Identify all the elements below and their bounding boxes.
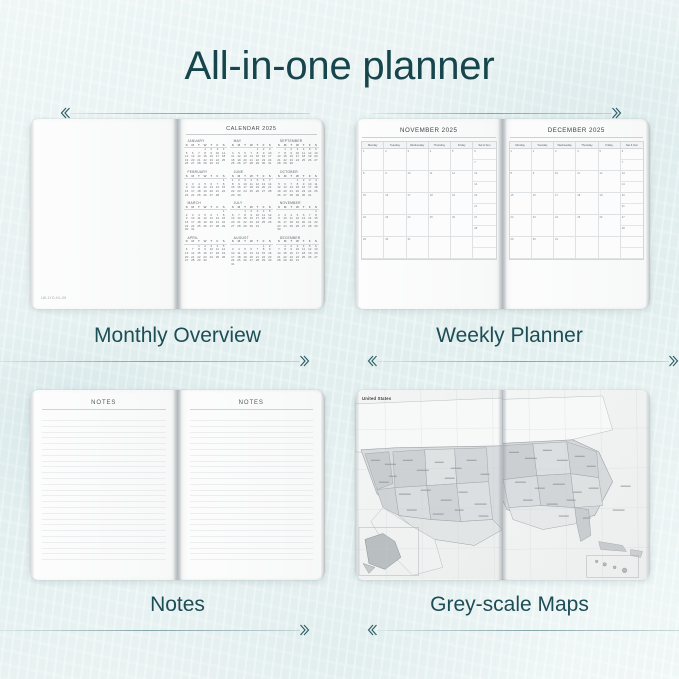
notes-header-left: NOTES xyxy=(30,400,178,406)
weekly-day-cell[interactable]: 26 xyxy=(599,215,621,237)
weekly-weekend-half[interactable]: 14 xyxy=(473,182,495,192)
weekly-page-right: DECEMBER 2025 MondayTuesdayWednesdayThur… xyxy=(503,119,651,309)
weekly-divider-right xyxy=(510,137,644,138)
weekly-day-cell[interactable]: 8 xyxy=(362,171,384,193)
weekly-column-header: Sat & Sun xyxy=(621,142,643,148)
weekly-day-cell[interactable]: 16 xyxy=(532,193,554,215)
weekly-day-number: 20 xyxy=(622,194,625,197)
map-page-left: United States xyxy=(355,390,503,580)
weekly-weekend-half[interactable] xyxy=(621,248,643,258)
weekly-day-cell[interactable]: 29 xyxy=(510,237,532,259)
book-notes[interactable]: NOTES NOTES xyxy=(30,390,325,580)
page-edge-left xyxy=(355,121,359,307)
caption-weekly-planner: Weekly Planner xyxy=(340,324,679,348)
weekly-day-cell[interactable]: 10 xyxy=(554,171,576,193)
weekly-day-number: 14 xyxy=(474,183,477,186)
weekly-day-number: 13 xyxy=(474,172,477,175)
notes-header-right: NOTES xyxy=(178,400,326,406)
weekly-day-number: 16 xyxy=(385,194,388,197)
weekly-day-cell[interactable]: 22 xyxy=(362,215,384,237)
weekly-day-cell[interactable] xyxy=(576,237,598,259)
mini-month: MARCHSMTWTFS1234567891011121314151617181… xyxy=(184,201,227,232)
weekly-day-cell[interactable]: 2 xyxy=(532,149,554,171)
weekly-day-cell[interactable]: 10 xyxy=(407,171,429,193)
page-edge-right xyxy=(321,392,325,578)
weekly-day-cell[interactable]: 1314 xyxy=(621,171,643,193)
weekly-day-number: 10 xyxy=(408,172,411,175)
weekly-day-cell[interactable] xyxy=(429,237,451,259)
weekly-day-number: 7 xyxy=(622,161,623,164)
weekly-day-number: 15 xyxy=(511,194,514,197)
mini-month: AUGUSTSMTWTFS123456789101112131415161718… xyxy=(230,236,273,267)
weekly-day-cell[interactable]: 22 xyxy=(510,215,532,237)
weekly-day-cell[interactable]: 17 xyxy=(554,193,576,215)
calendar-header: CALENDAR 2025 xyxy=(178,126,326,132)
mini-month: JANUARYSMTWTFS12345678910111213141516171… xyxy=(184,139,227,166)
weekly-day-cell[interactable]: 2728 xyxy=(621,215,643,237)
weekly-day-cell[interactable]: 19 xyxy=(599,193,621,215)
weekly-day-cell[interactable]: 23 xyxy=(384,215,406,237)
caption-monthly-overview: Monthly Overview xyxy=(0,324,355,348)
mini-month: JUNESMTWTFS12345678910111213141516171819… xyxy=(230,170,273,197)
weekly-day-number: 31 xyxy=(555,238,558,241)
weekly-day-number: 22 xyxy=(363,216,366,219)
weekly-day-cell[interactable]: 2 xyxy=(384,149,406,171)
notes-page-left: NOTES xyxy=(30,390,178,580)
weekly-day-number: 23 xyxy=(533,216,536,219)
mini-month: NOVEMBERSMTWTFS1234567891011121314151617… xyxy=(276,201,319,232)
rule-line xyxy=(377,630,679,631)
weekly-day-cell[interactable] xyxy=(451,237,473,259)
weekly-day-cell[interactable] xyxy=(473,237,495,259)
weekly-day-number: 18 xyxy=(577,194,580,197)
weekly-day-cell[interactable]: 15 xyxy=(362,193,384,215)
map-page-right xyxy=(503,390,651,580)
arrow-rule-top-right xyxy=(372,106,622,120)
weekly-day-cell[interactable]: 30 xyxy=(384,237,406,259)
weekly-day-cell[interactable]: 1 xyxy=(510,149,532,171)
book-weekly-planner[interactable]: NOVEMBER 2025 MondayTuesdayWednesdayThur… xyxy=(355,119,650,309)
weekly-weekend-half[interactable]: 27 xyxy=(473,215,495,226)
page-title: All-in-one planner xyxy=(0,44,679,89)
weekly-column-header: Thursday xyxy=(576,142,598,148)
weekly-day-number: 17 xyxy=(555,194,558,197)
weekly-day-number: 30 xyxy=(533,238,536,241)
rule-line xyxy=(377,361,669,362)
weekly-day-number: 19 xyxy=(452,194,455,197)
weekly-day-number: 9 xyxy=(385,172,386,175)
weekly-day-cell[interactable]: 11 xyxy=(429,171,451,193)
weekly-day-number: 19 xyxy=(600,194,603,197)
chevron-left-icon xyxy=(60,107,70,119)
weekly-day-number: 3 xyxy=(408,150,409,153)
weekly-day-number: 5 xyxy=(452,150,453,153)
mini-month: APRILSMTWTFS1234567891011121314151617181… xyxy=(184,236,227,267)
rule-line xyxy=(0,630,300,631)
chevron-right-icon xyxy=(300,355,310,367)
mini-month: OCTOBERSMTWTFS12345678910111213141516171… xyxy=(276,170,319,197)
arrow-rule-top-left xyxy=(60,106,310,120)
notes-divider-left xyxy=(42,409,166,410)
weekly-column-header: Monday xyxy=(362,142,384,148)
weekly-day-number: 18 xyxy=(430,194,433,197)
weekly-weekend-half[interactable]: 6 xyxy=(621,149,643,160)
weekly-month-left: NOVEMBER 2025 xyxy=(355,127,503,134)
weekly-day-cell[interactable]: 24 xyxy=(407,215,429,237)
weekly-day-number: 24 xyxy=(555,216,558,219)
arrow-rule-weekly-planner xyxy=(367,354,679,368)
weekly-weekend-half[interactable]: 13 xyxy=(473,171,495,182)
mini-week-row: 232425262728 xyxy=(184,194,227,198)
mini-week-row: 3031 xyxy=(184,228,227,232)
weekly-day-number: 2 xyxy=(385,150,386,153)
weekly-day-cell[interactable]: 8 xyxy=(510,171,532,193)
weekly-day-cell[interactable]: 25 xyxy=(576,215,598,237)
weekly-weekend-half[interactable]: 28 xyxy=(621,226,643,236)
weekly-day-cell[interactable]: 26 xyxy=(451,215,473,237)
weekly-column-header: Friday xyxy=(451,142,473,148)
weekly-day-number: 5 xyxy=(600,150,601,153)
notes-divider-right xyxy=(190,409,314,410)
weekly-column-header: Monday xyxy=(510,142,532,148)
weekly-weekend-half[interactable]: 7 xyxy=(621,160,643,170)
weekly-day-number: 23 xyxy=(385,216,388,219)
weekly-weekend-half[interactable]: 20 xyxy=(621,193,643,204)
weekly-day-cell[interactable]: 30 xyxy=(532,237,554,259)
weekly-day-number: 29 xyxy=(511,238,514,241)
weekly-day-number: 25 xyxy=(430,216,433,219)
weekly-day-cell[interactable]: 2021 xyxy=(621,193,643,215)
weekly-weekend-half[interactable]: 21 xyxy=(621,204,643,214)
product-code: LW-1YO-HL-05 xyxy=(41,296,66,300)
weekly-day-number: 12 xyxy=(452,172,455,175)
weekly-day-number: 1 xyxy=(511,150,512,153)
caption-grey-scale-maps: Grey-scale Maps xyxy=(340,593,679,617)
weekly-day-number: 4 xyxy=(577,150,578,153)
weekly-day-cell[interactable]: 5 xyxy=(451,149,473,171)
weekly-weekend-half[interactable]: 6 xyxy=(473,149,495,160)
weekly-day-number: 4 xyxy=(430,150,431,153)
arrow-rule-grey-scale-maps xyxy=(367,623,679,637)
weekly-day-number: 10 xyxy=(555,172,558,175)
chevron-left-icon xyxy=(367,624,377,636)
weekly-day-number: 21 xyxy=(622,205,625,208)
mini-week-row: 262728293031 xyxy=(276,194,319,198)
mini-month: DECEMBERSMTWTFS1234567891011121314151617… xyxy=(276,236,319,267)
mini-month: JULYSMTWTFS12345678910111213141516171819… xyxy=(230,201,273,232)
weekly-column-header: Wednesday xyxy=(407,142,429,148)
weekly-day-number: 20 xyxy=(474,194,477,197)
weekly-column-header: Wednesday xyxy=(554,142,576,148)
weekly-day-number: 8 xyxy=(363,172,364,175)
weekly-column-header: Sat & Sun xyxy=(473,142,495,148)
weekly-weekend-half[interactable]: 21 xyxy=(473,204,495,214)
map-graphic-left xyxy=(355,390,502,579)
weekly-day-cell[interactable]: 19 xyxy=(451,193,473,215)
weekly-day-cell[interactable]: 12 xyxy=(599,171,621,193)
weekly-month-right: DECEMBER 2025 xyxy=(503,127,651,134)
mini-week-row: 28293031 xyxy=(276,259,319,263)
weekly-day-number: 8 xyxy=(511,172,512,175)
mini-week-row: 27282930 xyxy=(184,259,227,263)
page-edge-left xyxy=(30,121,34,307)
weekly-column-header: Friday xyxy=(599,142,621,148)
mini-week-row: 2728293031 xyxy=(230,225,273,229)
weekly-grid-right: 1234567891011121314151617181920212223242… xyxy=(509,148,645,260)
rule-line xyxy=(372,113,612,114)
caption-notes: Notes xyxy=(0,593,355,617)
weekly-day-cell[interactable]: 11 xyxy=(576,171,598,193)
weekly-day-number: 26 xyxy=(600,216,603,219)
notes-ruled-lines-left xyxy=(42,415,166,565)
weekly-weekend-half[interactable]: 28 xyxy=(473,226,495,236)
mini-week-row: 25262728293031 xyxy=(230,162,273,166)
weekly-column-header: Thursday xyxy=(429,142,451,148)
weekly-day-cell[interactable] xyxy=(621,237,643,259)
weekly-day-number: 24 xyxy=(408,216,411,219)
weekly-day-number: 30 xyxy=(385,238,388,241)
notes-ruled-lines-right xyxy=(190,415,314,565)
weekly-day-number: 27 xyxy=(622,216,625,219)
weekly-day-number: 17 xyxy=(408,194,411,197)
weekly-day-number: 13 xyxy=(622,172,625,175)
notes-page-right: NOTES xyxy=(178,390,326,580)
weekly-day-number: 26 xyxy=(452,216,455,219)
weekly-day-number: 21 xyxy=(474,205,477,208)
weekly-day-cell[interactable]: 5 xyxy=(599,149,621,171)
mini-week-row: 31 xyxy=(230,263,273,267)
weekly-grid-left: 1234567891011121314151617181920212223242… xyxy=(361,148,497,260)
weekly-day-cell[interactable]: 3 xyxy=(554,149,576,171)
weekly-day-cell[interactable]: 1 xyxy=(362,149,384,171)
weekly-weekend-half[interactable]: 7 xyxy=(473,160,495,170)
weekly-day-number: 11 xyxy=(577,172,580,175)
weekly-columns-left: MondayTuesdayWednesdayThursdayFridaySat … xyxy=(361,141,497,148)
weekly-day-cell[interactable]: 18 xyxy=(576,193,598,215)
weekly-day-cell[interactable]: 23 xyxy=(532,215,554,237)
weekly-day-cell[interactable]: 9 xyxy=(532,171,554,193)
calendar-page-left: LW-1YO-HL-05 xyxy=(30,119,178,309)
weekly-day-number: 29 xyxy=(363,238,366,241)
arrow-rule-notes xyxy=(0,623,310,637)
weekly-weekend-half[interactable]: 14 xyxy=(621,182,643,192)
weekly-day-number: 3 xyxy=(555,150,556,153)
weekly-column-header: Tuesday xyxy=(384,142,406,148)
rule-line xyxy=(70,113,310,114)
weekly-day-number: 22 xyxy=(511,216,514,219)
weekly-day-cell[interactable]: 17 xyxy=(407,193,429,215)
weekly-day-number: 2 xyxy=(533,150,534,153)
weekly-day-cell[interactable]: 1314 xyxy=(473,171,495,193)
mini-month: MAYSMTWTFS123456789101112131415161718192… xyxy=(230,139,273,166)
mini-week-row: 262728293031 xyxy=(184,162,227,166)
weekly-day-number: 14 xyxy=(622,183,625,186)
weekly-weekend-half[interactable] xyxy=(473,248,495,258)
weekly-column-header: Tuesday xyxy=(532,142,554,148)
arrow-rule-monthly-overview xyxy=(0,354,310,368)
calendar-page-right: CALENDAR 2025 JANUARYSMTWTFS123456789101… xyxy=(178,119,326,309)
chevron-left-icon xyxy=(367,355,377,367)
weekly-day-cell[interactable] xyxy=(599,237,621,259)
book-monthly-overview[interactable]: LW-1YO-HL-05 CALENDAR 2025 JANUARYSMTWTF… xyxy=(30,119,325,309)
calendar-divider xyxy=(186,134,318,135)
mini-week-row: 30 xyxy=(276,228,319,232)
book-grey-scale-maps[interactable]: United States xyxy=(355,390,650,580)
weekly-day-number: 7 xyxy=(474,161,475,164)
map-title: United States xyxy=(362,396,391,401)
mini-week-row: 2930 xyxy=(230,194,273,198)
weekly-weekend-half[interactable]: 20 xyxy=(473,193,495,204)
weekly-day-number: 1 xyxy=(363,150,364,153)
weekly-day-number: 15 xyxy=(363,194,366,197)
weekly-weekend-half[interactable] xyxy=(473,237,495,248)
weekly-day-cell[interactable]: 67 xyxy=(621,149,643,171)
weekly-page-left: NOVEMBER 2025 MondayTuesdayWednesdayThur… xyxy=(355,119,503,309)
weekly-day-number: 28 xyxy=(622,227,625,230)
weekly-day-cell[interactable]: 31 xyxy=(554,237,576,259)
weekly-day-cell[interactable]: 12 xyxy=(451,171,473,193)
weekly-day-cell[interactable]: 67 xyxy=(473,149,495,171)
weekly-day-cell[interactable]: 29 xyxy=(362,237,384,259)
weekly-weekend-half[interactable]: 13 xyxy=(621,171,643,182)
page-edge-left xyxy=(30,392,34,578)
weekly-day-cell[interactable]: 4 xyxy=(576,149,598,171)
weekly-weekend-half[interactable] xyxy=(621,237,643,248)
weekly-day-cell[interactable]: 25 xyxy=(429,215,451,237)
weekly-day-cell[interactable]: 3 xyxy=(407,149,429,171)
weekly-day-number: 12 xyxy=(600,172,603,175)
mini-month: SEPTEMBERSMTWTFS123456789101112131415161… xyxy=(276,139,319,166)
chevron-right-icon xyxy=(669,355,679,367)
rule-line xyxy=(0,361,300,362)
weekly-day-cell[interactable]: 24 xyxy=(554,215,576,237)
weekly-day-cell[interactable]: 2728 xyxy=(473,215,495,237)
weekly-day-cell[interactable]: 2021 xyxy=(473,193,495,215)
weekly-day-cell[interactable]: 15 xyxy=(510,193,532,215)
mini-month: FEBRUARYSMTWTFS1234567891011121314151617… xyxy=(184,170,227,197)
chevron-right-icon xyxy=(612,107,622,119)
weekly-divider-left xyxy=(362,137,496,138)
weekly-day-number: 25 xyxy=(577,216,580,219)
weekly-day-cell[interactable]: 4 xyxy=(429,149,451,171)
chevron-right-icon xyxy=(300,624,310,636)
weekly-day-number: 28 xyxy=(474,227,477,230)
weekly-day-cell[interactable]: 31 xyxy=(407,237,429,259)
weekly-day-number: 16 xyxy=(533,194,536,197)
weekly-day-cell[interactable]: 9 xyxy=(384,171,406,193)
page-edge-right xyxy=(646,121,650,307)
weekly-weekend-half[interactable]: 27 xyxy=(621,215,643,226)
weekly-columns-right: MondayTuesdayWednesdayThursdayFridaySat … xyxy=(509,141,645,148)
weekly-day-number: 6 xyxy=(622,150,623,153)
mini-week-row: 282930 xyxy=(276,162,319,166)
weekly-day-number: 9 xyxy=(533,172,534,175)
weekly-day-cell[interactable]: 16 xyxy=(384,193,406,215)
weekly-day-number: 6 xyxy=(474,150,475,153)
map-graphic-right xyxy=(503,390,650,579)
weekly-day-cell[interactable]: 18 xyxy=(429,193,451,215)
calendar-month-grid: JANUARYSMTWTFS12345678910111213141516171… xyxy=(178,139,326,266)
weekly-day-number: 27 xyxy=(474,216,477,219)
weekly-day-number: 11 xyxy=(430,172,433,175)
weekly-day-number: 31 xyxy=(408,238,411,241)
